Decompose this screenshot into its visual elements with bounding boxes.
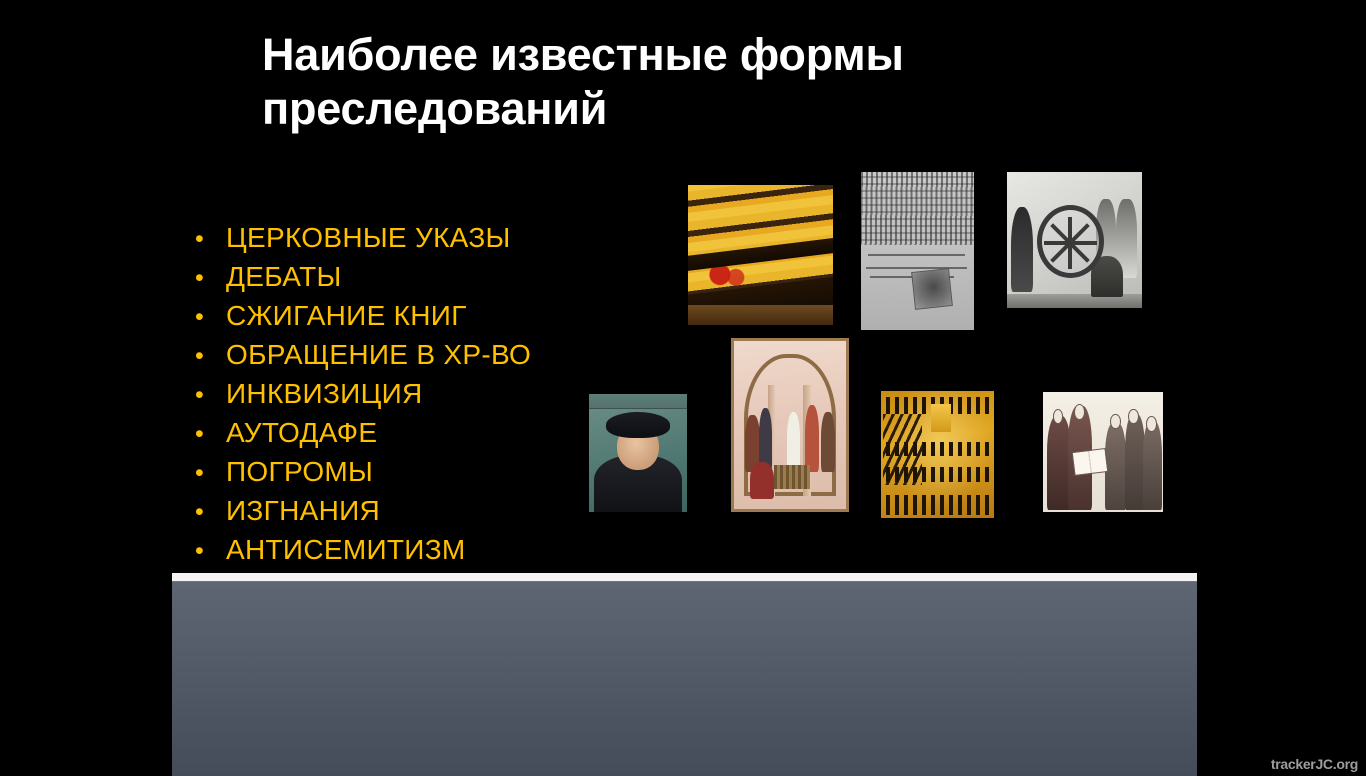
woodcut-clergy-with-book-photo: [1043, 392, 1163, 512]
list-item: • СЖИГАНИЕ КНИГ: [190, 296, 660, 335]
council-tier-divider: [688, 237, 833, 272]
panel-body: [172, 581, 1197, 776]
auto-crowd-row: [886, 495, 990, 515]
bullet-marker-icon: •: [190, 493, 226, 532]
auto-stage: [931, 404, 951, 432]
bottom-panel: [172, 573, 1197, 776]
woodcut-figure: [1047, 416, 1071, 510]
luther-cap: [606, 412, 671, 438]
handwritten-manuscript-photo: [861, 172, 974, 330]
list-item: • АНТИСЕМИТИЗМ: [190, 530, 660, 569]
council-floor: [688, 305, 833, 325]
list-item-label: АУТОДАФЕ: [226, 413, 377, 452]
bullet-marker-icon: •: [190, 415, 226, 454]
list-item: • ЦЕРКОВНЫЕ УКАЗЫ: [190, 218, 660, 257]
slide-title: Наиболее известные формы преследований: [262, 28, 1022, 136]
illum-figure: [821, 412, 834, 472]
list-item-label: ИНКВИЗИЦИЯ: [226, 374, 423, 413]
manuscript-line: [866, 267, 968, 269]
list-item: • ДЕБАТЫ: [190, 257, 660, 296]
illum-book-pile: [774, 465, 810, 489]
illum-figure: [787, 412, 800, 472]
woodcut-figure: [1125, 414, 1145, 510]
council-assembly-photo: [688, 185, 833, 325]
list-item-label: АНТИСЕМИТИЗМ: [226, 530, 466, 569]
martin-luther-portrait-photo: [589, 394, 687, 512]
auto-da-fe-painting-photo: [881, 391, 994, 518]
illuminated-manuscript-photo: [731, 338, 849, 512]
wheel-spoke: [1068, 243, 1072, 269]
bullet-marker-icon: •: [190, 298, 226, 337]
woodcut-head: [1110, 414, 1121, 430]
bullet-marker-icon: •: [190, 259, 226, 298]
woodcut-open-book: [1072, 448, 1108, 476]
auto-crowd-row: [886, 467, 990, 482]
bullet-marker-icon: •: [190, 532, 226, 571]
list-item-label: ПОГРОМЫ: [226, 452, 373, 491]
list-item-label: ИЗГНАНИЯ: [226, 491, 380, 530]
illum-kneeling-figure: [750, 462, 775, 499]
list-item: • ОБРАЩЕНИЕ В ХР-ВО: [190, 335, 660, 374]
illum-figure: [805, 405, 820, 472]
woodcut-head: [1146, 416, 1157, 432]
list-item-label: ЦЕРКОВНЫЕ УКАЗЫ: [226, 218, 511, 257]
breaking-wheel-engraving-photo: [1007, 172, 1142, 308]
watermark: trackerJC.org: [1271, 756, 1358, 772]
wheel-executioner: [1011, 207, 1033, 291]
bullet-marker-icon: •: [190, 376, 226, 415]
woodcut-figure: [1143, 421, 1162, 510]
auto-crowd-row: [886, 442, 990, 456]
list-item-label: ДЕБАТЫ: [226, 257, 342, 296]
bullet-marker-icon: •: [190, 454, 226, 493]
manuscript-line: [868, 254, 965, 256]
list-item-label: СЖИГАНИЕ КНИГ: [226, 296, 467, 335]
bullet-marker-icon: •: [190, 337, 226, 376]
panel-top-strip: [172, 573, 1197, 581]
wheel-ring: [1037, 205, 1105, 278]
woodcut-head: [1074, 404, 1085, 420]
bullet-marker-icon: •: [190, 220, 226, 259]
list-item-label: ОБРАЩЕНИЕ В ХР-ВО: [226, 335, 531, 374]
portrait-top-band: [589, 394, 687, 409]
manuscript-wax-seal: [911, 268, 953, 310]
woodcut-figure: [1105, 423, 1125, 509]
